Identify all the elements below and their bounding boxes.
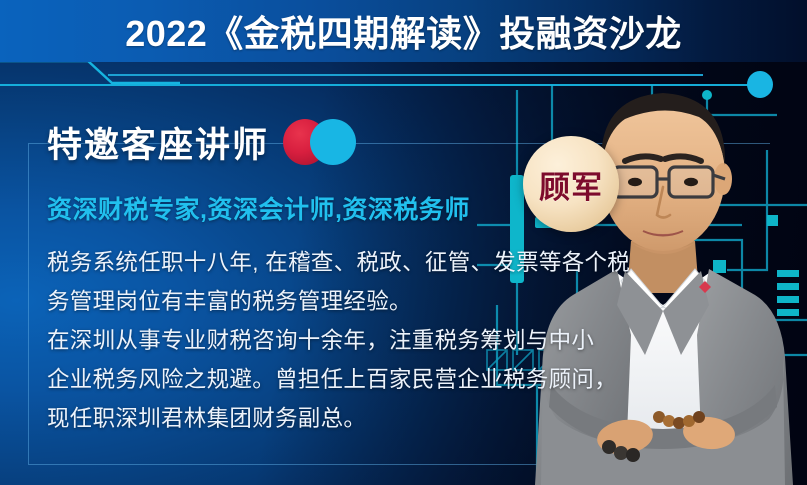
page-title: 2022《金税四期解读》投融资沙龙 xyxy=(0,0,807,62)
bio-line: 企业税务风险之规避。曾担任上百家民营企业税务顾问， xyxy=(47,360,587,399)
poster-canvas: 2022《金税四期解读》投融资沙龙 顾军 特邀客座讲师 资深财税专家,资深会计师… xyxy=(0,0,807,485)
lecturer-credentials: 资深财税专家,资深会计师,资深税务师 xyxy=(47,190,587,226)
lecturer-heading-row: 特邀客座讲师 xyxy=(47,116,587,168)
lecturer-bio: 税务系统任职十八年, 在稽查、税政、征管、发票等各个税 务管理岗位有丰富的税务管… xyxy=(47,243,587,438)
bio-line: 务管理岗位有丰富的税务管理经验。 xyxy=(47,282,587,321)
lecturer-heading: 特邀客座讲师 xyxy=(47,117,269,168)
bio-line: 税务系统任职十八年, 在稽查、税政、征管、发票等各个税 xyxy=(47,243,587,282)
header-underline-top xyxy=(108,74,703,76)
lecturer-info-block: 特邀客座讲师 资深财税专家,资深会计师,资深税务师 税务系统任职十八年, 在稽查… xyxy=(47,116,587,438)
cyan-circle-icon xyxy=(310,119,356,165)
bio-line: 在深圳从事专业财税咨询十余年，注重税务筹划与中小 xyxy=(47,321,587,360)
cyan-dot-icon xyxy=(747,71,773,98)
two-circles-decoration xyxy=(283,119,367,165)
bio-line: 现任职深圳君林集团财务副总。 xyxy=(47,399,587,438)
